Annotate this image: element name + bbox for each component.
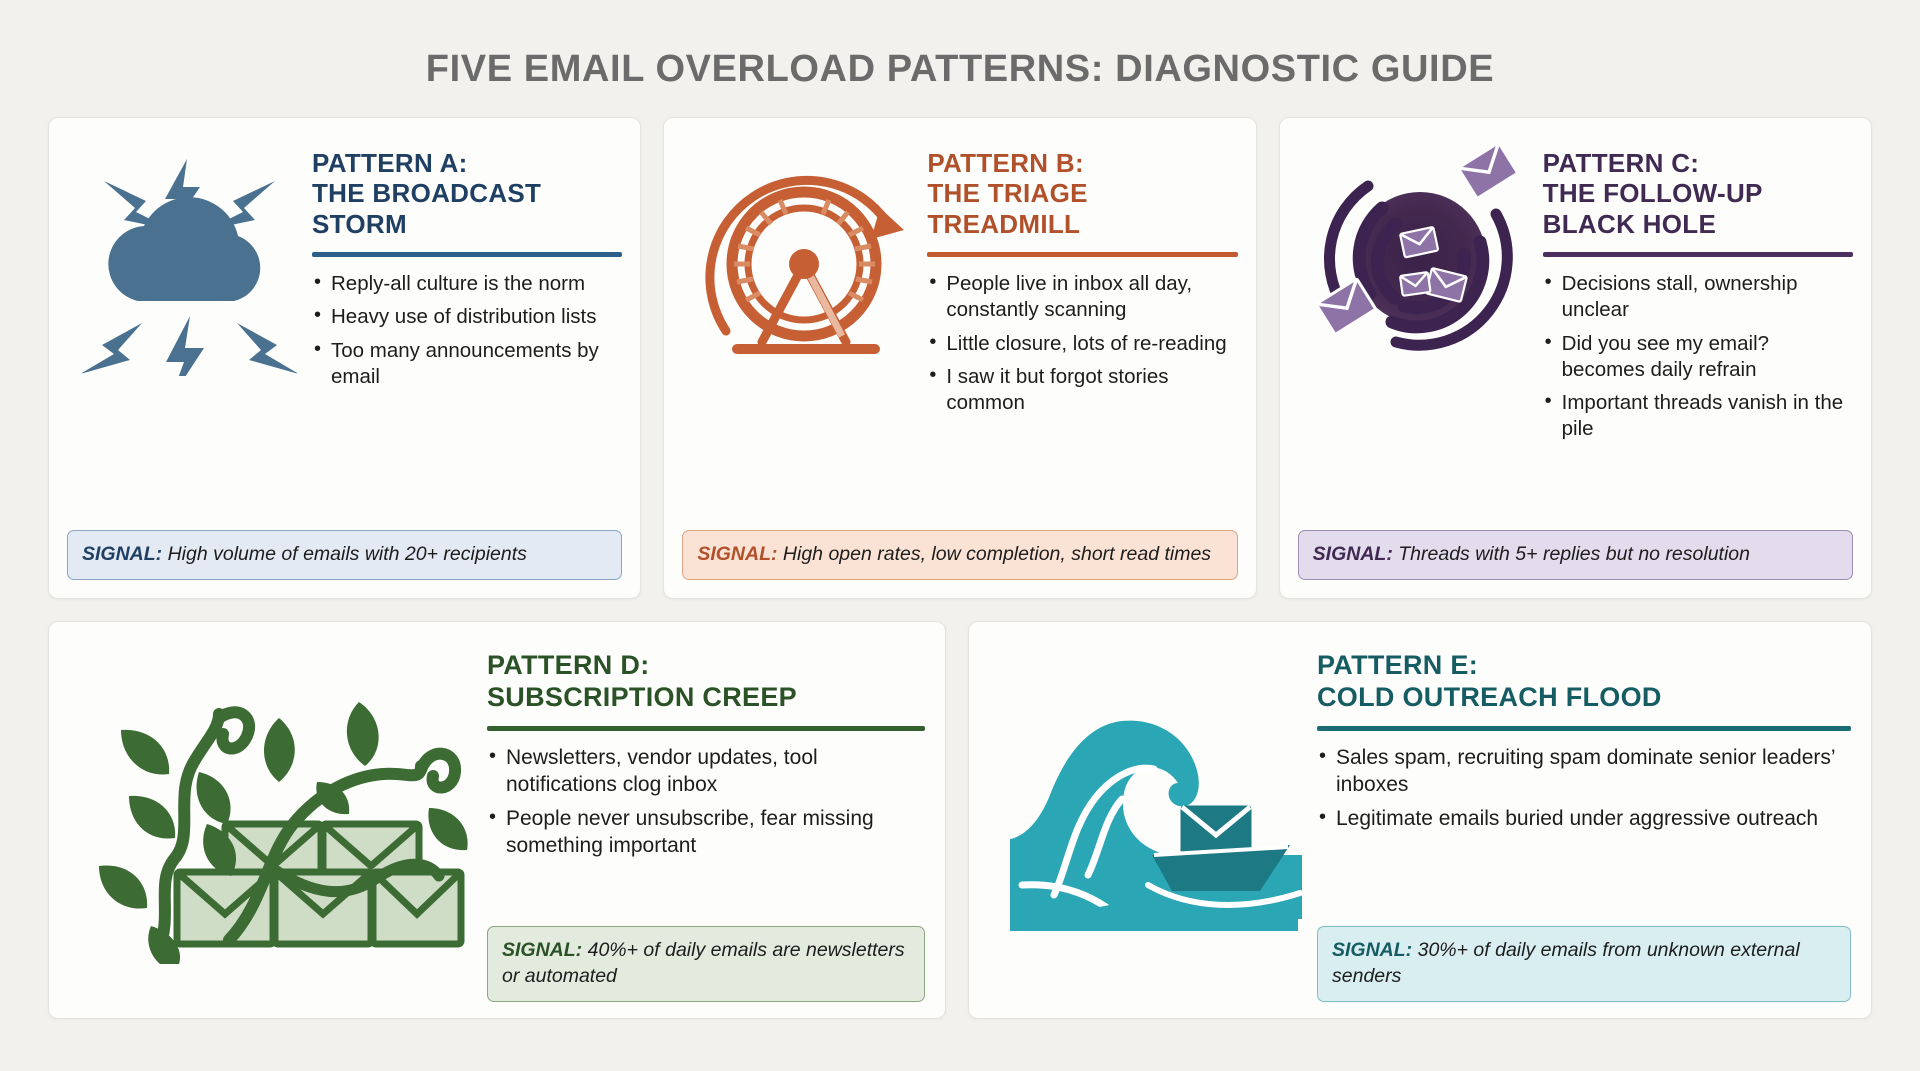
pattern-name: THE BROADCAST STORM bbox=[312, 178, 622, 239]
hamster-wheel-icon bbox=[692, 146, 917, 371]
signal-tag: SIGNAL: bbox=[82, 543, 162, 565]
signal-tag: SIGNAL: bbox=[502, 939, 582, 961]
signal-tag: SIGNAL: bbox=[1313, 543, 1393, 565]
pattern-label: PATTERN B: bbox=[927, 148, 1237, 178]
black-hole-vortex-envelopes-icon bbox=[1308, 146, 1533, 371]
icon-container bbox=[67, 636, 487, 1002]
signal-badge: SIGNAL: Threads with 5+ replies but no r… bbox=[1298, 530, 1853, 580]
pattern-name: COLD OUTREACH FLOOD bbox=[1317, 682, 1851, 714]
accent-rule bbox=[927, 252, 1237, 257]
pattern-card-e[interactable]: PATTERN E: COLD OUTREACH FLOOD Sales spa… bbox=[968, 621, 1872, 1019]
card-body: PATTERN C: THE FOLLOW-UP BLACK HOLE Deci… bbox=[1298, 134, 1853, 518]
card-text-column: PATTERN C: THE FOLLOW-UP BLACK HOLE Deci… bbox=[1543, 134, 1853, 518]
pattern-label: PATTERN E: bbox=[1317, 650, 1851, 682]
signal-text: High open rates, low completion, short r… bbox=[783, 543, 1211, 565]
card-text-column: PATTERN A: THE BROADCAST STORM Reply-all… bbox=[312, 134, 622, 518]
signal-badge: SIGNAL: 30%+ of daily emails from unknow… bbox=[1317, 926, 1851, 1002]
list-item: Sales spam, recruiting spam dominate sen… bbox=[1317, 745, 1851, 799]
list-item: Did you see my email? becomes daily refr… bbox=[1543, 331, 1853, 383]
signal-tag: SIGNAL: bbox=[697, 543, 777, 565]
infographic-page: FIVE EMAIL OVERLOAD PATTERNS: DIAGNOSTIC… bbox=[0, 0, 1920, 1071]
pattern-card-b[interactable]: PATTERN B: THE TRIAGE TREADMILL People l… bbox=[663, 117, 1256, 599]
storm-cloud-lightning-icon bbox=[82, 146, 297, 376]
bullet-list: Sales spam, recruiting spam dominate sen… bbox=[1317, 745, 1851, 840]
pattern-name: SUBSCRIPTION CREEP bbox=[487, 682, 925, 714]
accent-rule bbox=[1543, 252, 1853, 257]
pattern-name: THE FOLLOW-UP BLACK HOLE bbox=[1543, 178, 1853, 239]
accent-rule bbox=[1317, 726, 1851, 731]
signal-badge: SIGNAL: High open rates, low completion,… bbox=[682, 530, 1237, 580]
card-text-column: PATTERN B: THE TRIAGE TREADMILL People l… bbox=[927, 134, 1237, 518]
card-text-column: PATTERN D: SUBSCRIPTION CREEP Newsletter… bbox=[487, 636, 925, 1002]
accent-rule bbox=[312, 252, 622, 257]
card-text-column: PATTERN E: COLD OUTREACH FLOOD Sales spa… bbox=[1317, 636, 1851, 1002]
bullet-list: People live in inbox all day, constantly… bbox=[927, 271, 1237, 423]
list-item: Too many announcements by email bbox=[312, 338, 622, 390]
pattern-row-top: PATTERN A: THE BROADCAST STORM Reply-all… bbox=[48, 117, 1872, 599]
signal-text: Threads with 5+ replies but no resolutio… bbox=[1398, 543, 1750, 565]
list-item: People live in inbox all day, constantly… bbox=[927, 271, 1237, 323]
icon-container bbox=[682, 134, 927, 518]
signal-text: High volume of emails with 20+ recipient… bbox=[168, 543, 527, 565]
pattern-label: PATTERN D: bbox=[487, 650, 925, 682]
icon-container bbox=[1298, 134, 1543, 518]
list-item: Heavy use of distribution lists bbox=[312, 304, 622, 330]
wave-flooding-boat-envelope-icon bbox=[1002, 699, 1302, 939]
list-item: Important threads vanish in the pile bbox=[1543, 390, 1853, 442]
bullet-list: Decisions stall, ownership unclear Did y… bbox=[1543, 271, 1853, 449]
pattern-row-bottom: PATTERN D: SUBSCRIPTION CREEP Newsletter… bbox=[48, 621, 1872, 1019]
card-heading-block: PATTERN E: COLD OUTREACH FLOOD Sales spa… bbox=[1317, 636, 1851, 926]
list-item: Decisions stall, ownership unclear bbox=[1543, 271, 1853, 323]
pattern-card-c[interactable]: PATTERN C: THE FOLLOW-UP BLACK HOLE Deci… bbox=[1279, 117, 1872, 599]
signal-tag: SIGNAL: bbox=[1332, 939, 1412, 961]
list-item: Little closure, lots of re-reading bbox=[927, 331, 1237, 357]
card-heading-block: PATTERN D: SUBSCRIPTION CREEP Newsletter… bbox=[487, 636, 925, 926]
pattern-label: PATTERN C: bbox=[1543, 148, 1853, 178]
bullet-list: Newsletters, vendor updates, tool notifi… bbox=[487, 745, 925, 867]
list-item: People never unsubscribe, fear missing s… bbox=[487, 806, 925, 860]
icon-container bbox=[67, 134, 312, 518]
list-item: I saw it but forgot stories common bbox=[927, 364, 1237, 416]
page-title: FIVE EMAIL OVERLOAD PATTERNS: DIAGNOSTIC… bbox=[48, 48, 1872, 91]
list-item: Legitimate emails buried under aggressiv… bbox=[1317, 806, 1851, 833]
card-body: PATTERN B: THE TRIAGE TREADMILL People l… bbox=[682, 134, 1237, 518]
icon-container bbox=[987, 636, 1317, 1002]
vine-overgrown-envelopes-icon bbox=[77, 674, 477, 964]
list-item: Newsletters, vendor updates, tool notifi… bbox=[487, 745, 925, 799]
pattern-label: PATTERN A: bbox=[312, 148, 622, 178]
pattern-card-a[interactable]: PATTERN A: THE BROADCAST STORM Reply-all… bbox=[48, 117, 641, 599]
bullet-list: Reply-all culture is the norm Heavy use … bbox=[312, 271, 622, 397]
accent-rule bbox=[487, 726, 925, 731]
card-body: PATTERN E: COLD OUTREACH FLOOD Sales spa… bbox=[987, 636, 1851, 1002]
list-item: Reply-all culture is the norm bbox=[312, 271, 622, 297]
card-body: PATTERN D: SUBSCRIPTION CREEP Newsletter… bbox=[67, 636, 925, 1002]
card-body: PATTERN A: THE BROADCAST STORM Reply-all… bbox=[67, 134, 622, 518]
signal-badge: SIGNAL: 40%+ of daily emails are newslet… bbox=[487, 926, 925, 1002]
signal-badge: SIGNAL: High volume of emails with 20+ r… bbox=[67, 530, 622, 580]
pattern-name: THE TRIAGE TREADMILL bbox=[927, 178, 1237, 239]
pattern-card-d[interactable]: PATTERN D: SUBSCRIPTION CREEP Newsletter… bbox=[48, 621, 946, 1019]
